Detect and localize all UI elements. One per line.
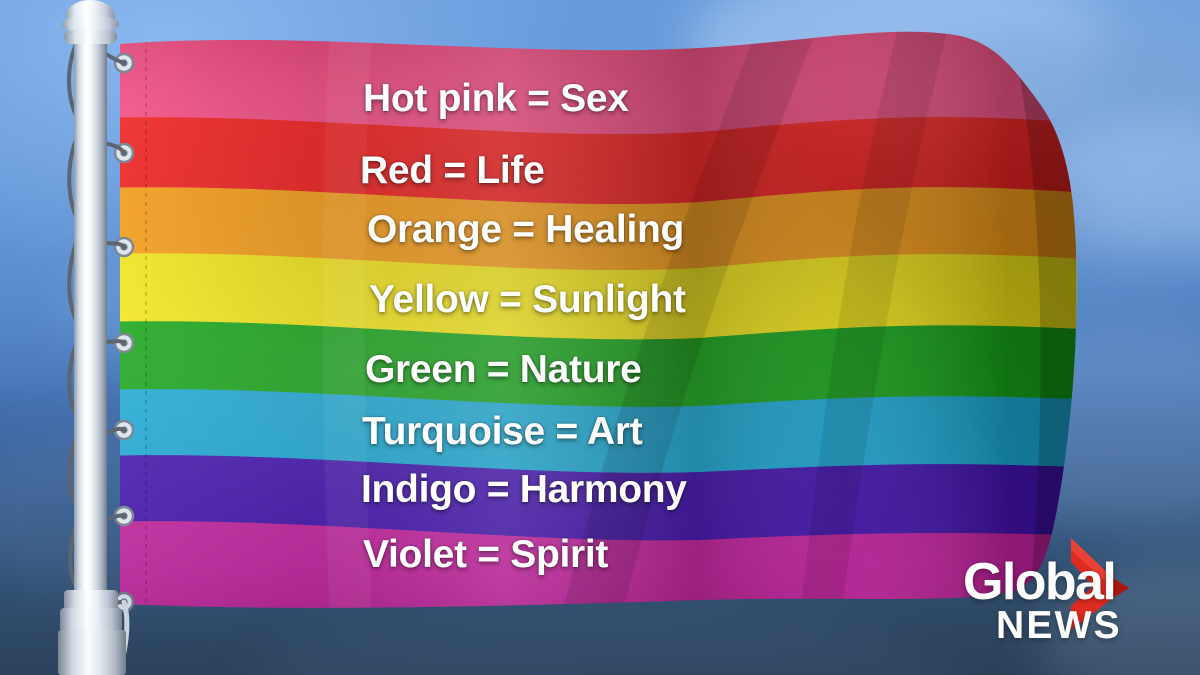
- label-orange: Orange = Healing: [367, 210, 684, 249]
- label-turquoise: Turquoise = Art: [362, 412, 642, 451]
- label-indigo: Indigo = Harmony: [361, 470, 687, 509]
- screenshot-stage: Hot pink = Sex Red = Life Orange = Heali…: [0, 0, 1200, 675]
- label-red: Red = Life: [360, 151, 544, 190]
- label-green: Green = Nature: [365, 350, 642, 389]
- label-hot-pink: Hot pink = Sex: [363, 79, 629, 118]
- logo-wordmark-global: Global: [963, 556, 1115, 608]
- logo-wordmark-news: NEWS: [996, 606, 1122, 645]
- label-yellow: Yellow = Sunlight: [369, 280, 686, 319]
- global-news-logo: Global NEWS: [963, 534, 1133, 650]
- label-violet: Violet = Spirit: [363, 535, 608, 574]
